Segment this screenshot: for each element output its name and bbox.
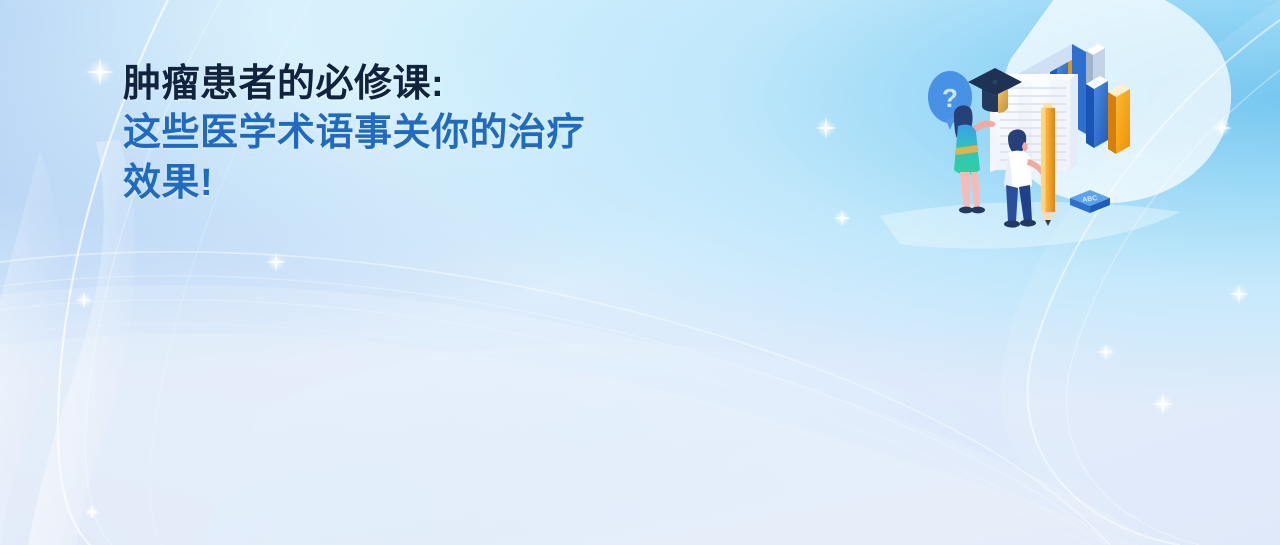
giant-pencil-icon	[1041, 102, 1055, 226]
study-books-isometric-illustration: ?	[900, 22, 1150, 237]
woman-figure	[954, 105, 995, 213]
headline-line-3: 效果!	[123, 159, 585, 208]
headline-line-1: 肿瘤患者的必修课:	[123, 60, 585, 109]
headline: 肿瘤患者的必修课: 这些医学术语事关你的治疗 效果!	[123, 60, 585, 208]
promo-banner: 肿瘤患者的必修课: 这些医学术语事关你的治疗 效果!	[0, 0, 1280, 545]
svg-text:?: ?	[942, 83, 958, 113]
headline-line-2: 这些医学术语事关你的治疗	[123, 109, 585, 158]
abc-block: ABC	[1070, 190, 1110, 213]
